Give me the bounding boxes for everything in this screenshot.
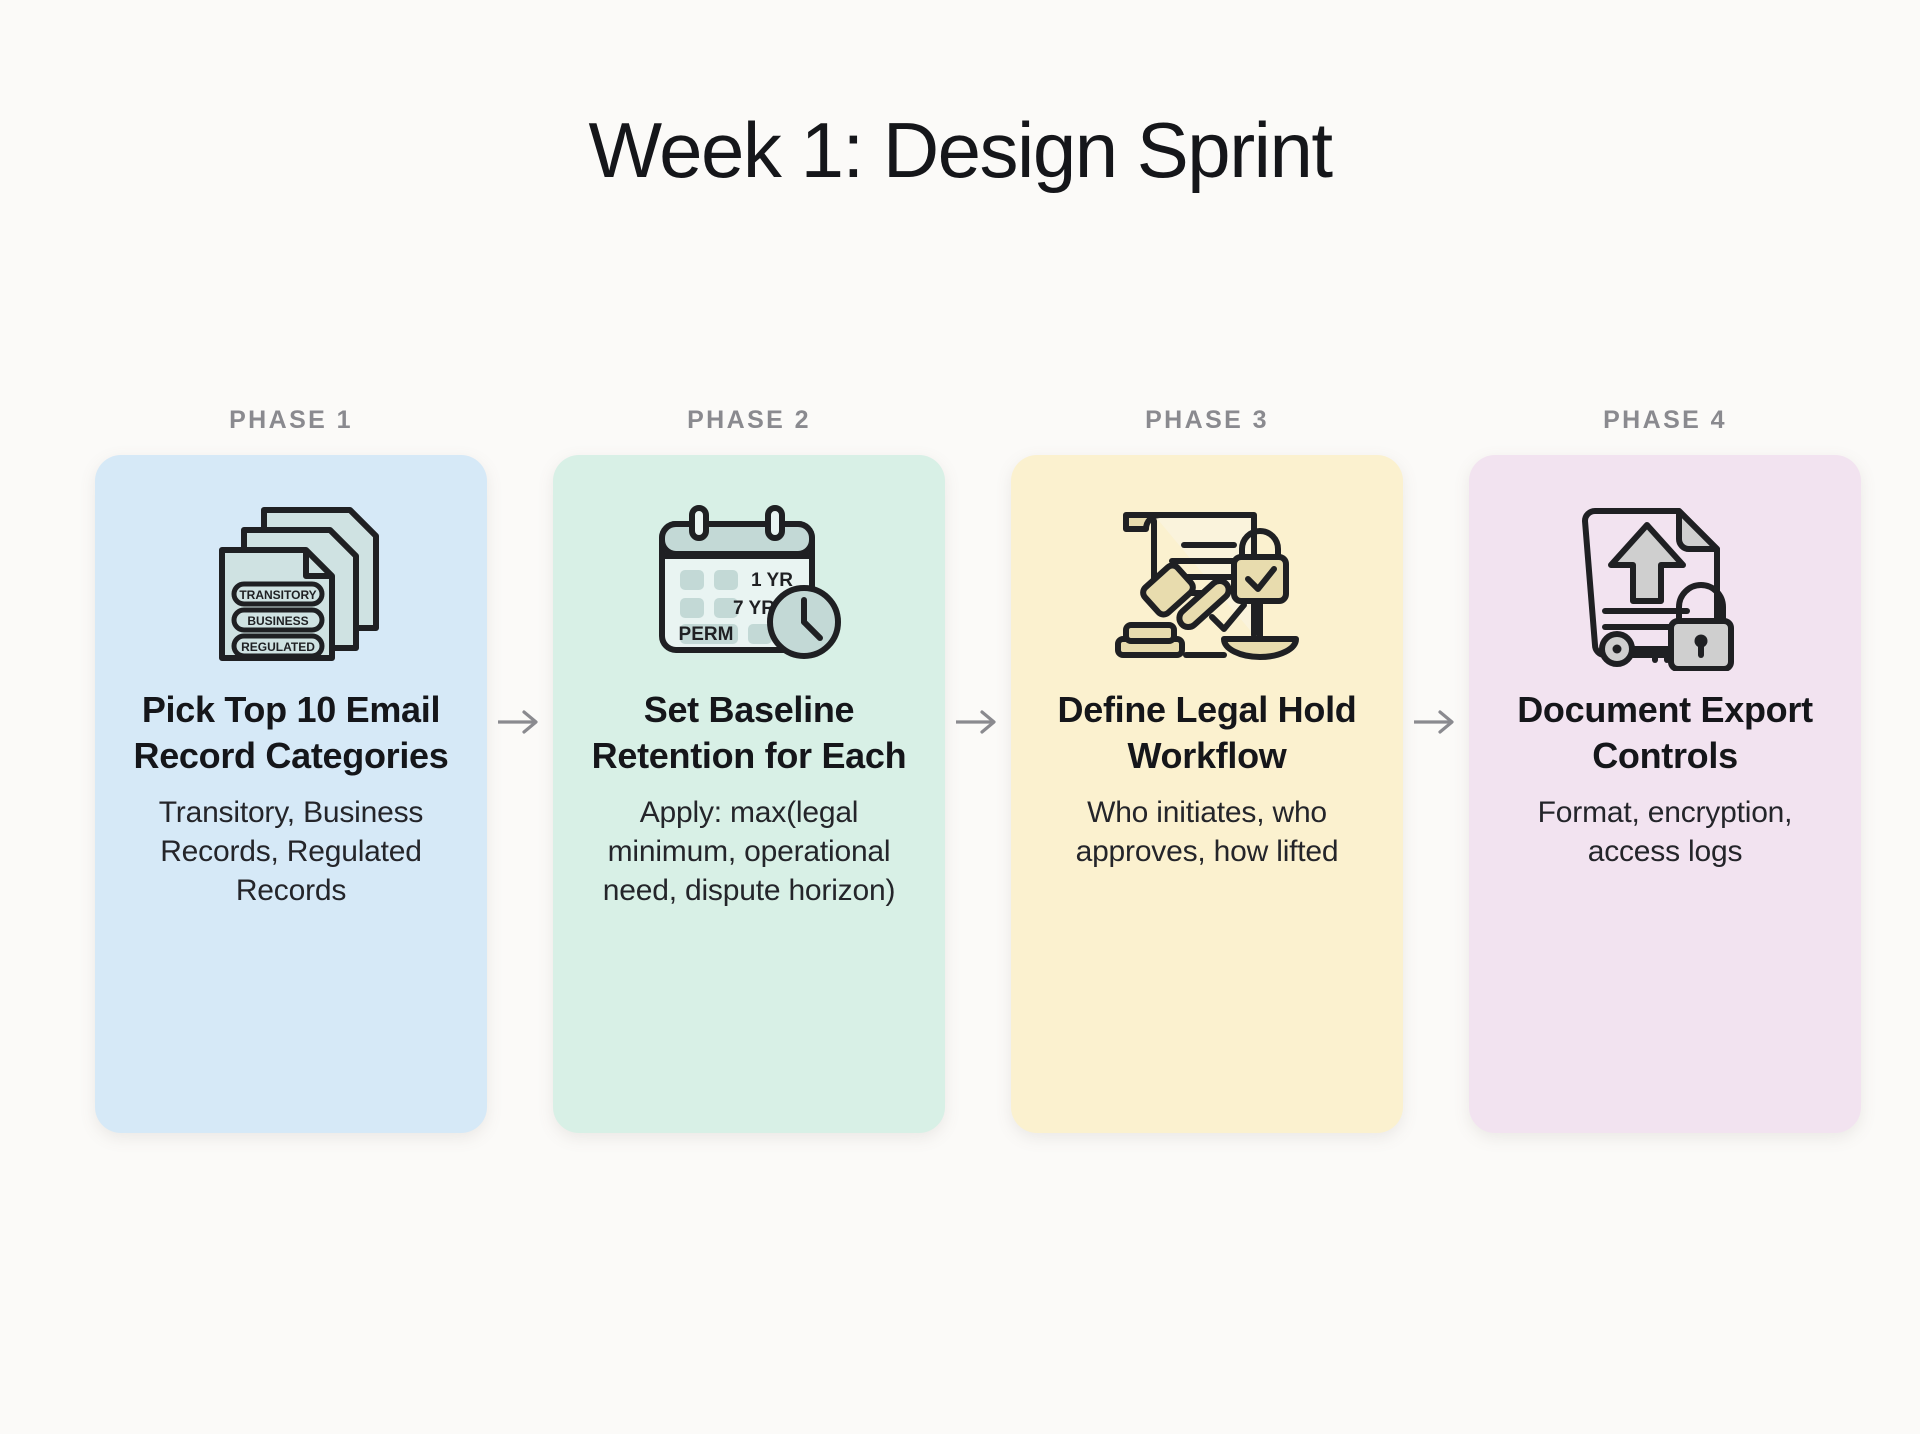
phase-card-2[interactable]: 1 YR 7 YR PERM Set Baseline Retention fo… [553,455,945,1133]
page-title: Week 1: Design Sprint [0,108,1920,194]
document-upload-key-lock-icon [1563,497,1768,673]
arrow-3-to-4 [1403,708,1469,736]
icon-label-1yr: 1 YR [751,570,793,591]
phase-card-1[interactable]: TRANSITORY BUSINESS REGULATED Pick Top 1… [95,455,487,1133]
gavel-scroll-lock-icon [1100,497,1315,673]
phase-column-3: PHASE 3 [1011,408,1403,1133]
arrow-right-icon [954,708,1002,736]
arrow-2-to-3 [945,708,1011,736]
phase-label-1: PHASE 1 [229,408,353,433]
phase-column-4: PHASE 4 [1469,408,1861,1133]
card-body-3: Who initiates, who approves, how lifted [1037,793,1377,871]
phase-label-4: PHASE 4 [1603,408,1727,433]
calendar-clock-icon: 1 YR 7 YR PERM [642,497,857,673]
phase-column-2: PHASE 2 [553,408,945,1133]
stacked-documents-icon: TRANSITORY BUSINESS REGULATED [186,497,396,673]
phase-column-1: PHASE 1 TRANSITORY [95,408,487,1133]
icon-label-perm: PERM [678,624,733,645]
card-body-2: Apply: max(legal minimum, operational ne… [579,793,919,910]
card-title-2: Set Baseline Retention for Each [579,687,919,779]
phase-label-3: PHASE 3 [1145,408,1269,433]
card-title-3: Define Legal Hold Workflow [1037,687,1377,779]
icon-label-transitory: TRANSITORY [239,588,316,602]
phase-flow: PHASE 1 TRANSITORY [95,408,1855,1133]
phase-card-3[interactable]: Define Legal Hold Workflow Who initiates… [1011,455,1403,1133]
card-title-4: Document Export Controls [1495,687,1835,779]
card-title-1: Pick Top 10 Email Record Categories [121,687,461,779]
phase-card-4[interactable]: Document Export Controls Format, encrypt… [1469,455,1861,1133]
slide-canvas: Week 1: Design Sprint PHASE 1 [0,0,1920,1434]
icon-label-regulated: REGULATED [241,640,315,654]
arrow-right-icon [1412,708,1460,736]
icon-label-business: BUSINESS [247,614,308,628]
arrow-1-to-2 [487,708,553,736]
card-body-4: Format, encryption, access logs [1495,793,1835,871]
phase-label-2: PHASE 2 [687,408,811,433]
arrow-right-icon [496,708,544,736]
card-body-1: Transitory, Business Records, Regulated … [121,793,461,910]
